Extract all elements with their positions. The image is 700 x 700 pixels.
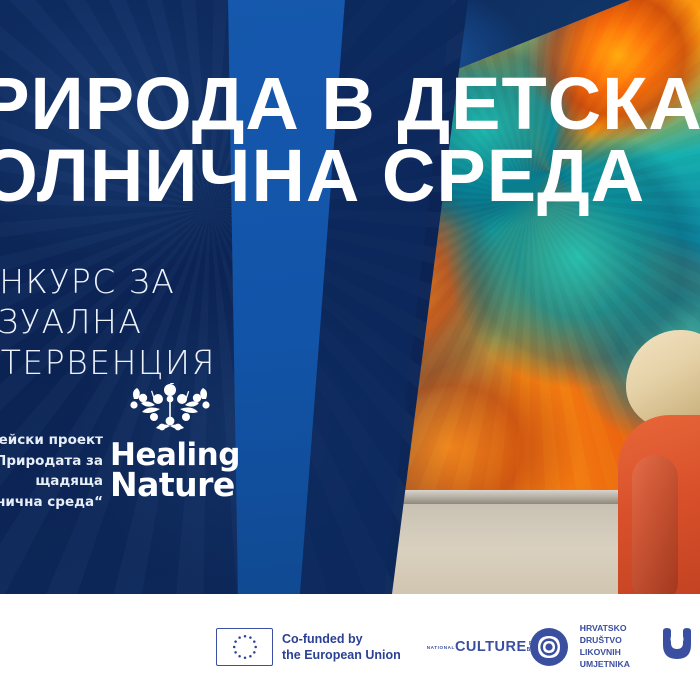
healing-nature-wordmark: Healing Nature xyxy=(110,441,230,500)
national-culture-fund-logo: NATIONAL CULTURE FUND OF BULGARIA xyxy=(427,626,501,668)
eu-flag-icon xyxy=(216,628,273,666)
hdlu-circle-icon xyxy=(527,625,571,669)
ncf-subtitle-top: NATIONAL xyxy=(427,645,455,650)
footer-logo-bar: Co-funded by the European Union xyxy=(0,594,700,700)
project-note-line-1: Европейски проект xyxy=(0,430,103,451)
project-note-line-3: болнична среда“ xyxy=(0,492,103,513)
hdlu-line-4: UMJETNIKA xyxy=(580,659,630,671)
brand-word-nature: Nature xyxy=(110,470,230,500)
hdlu-logo: HRVATSKO DRUŠTVO LIKOVNIH UMJETNIKA xyxy=(527,623,630,670)
eu-cofunding-logo: Co-funded by the European Union xyxy=(216,628,401,666)
child-orange-shirt xyxy=(618,415,700,594)
poster-canvas: ПРИРОДА В ДЕТСКА БОЛНИЧНА СРЕДА КОНКУРС … xyxy=(0,0,700,700)
eu-text-line-2: the European Union xyxy=(282,647,401,664)
hdlu-name-text: HRVATSKO DRUŠTVO LIKOVNIH UMJETNIKA xyxy=(580,623,630,670)
subtitle-line-1: КОНКУРС ЗА ВИЗУАЛНА xyxy=(0,262,368,343)
healing-nature-logo: Healing Nature xyxy=(110,383,230,500)
project-note: Европейски проект "Природата за щадяща б… xyxy=(0,430,103,512)
hdlu-line-2: DRUŠTVO xyxy=(580,635,630,647)
eu-cofunding-text: Co-funded by the European Union xyxy=(282,631,401,664)
hdlu-line-1: HRVATSKO xyxy=(580,623,630,635)
title-line-1: ПРИРОДА В ДЕТСКА xyxy=(0,62,700,145)
nbu-logo: НОВ БЪЛГАРСКИ УНИВЕРСИТЕТ xyxy=(656,625,700,669)
eu-text-line-1: Co-funded by xyxy=(282,631,401,648)
floral-ornament-icon xyxy=(110,383,230,441)
title-line-2: БОЛНИЧНА СРЕДА xyxy=(0,140,700,212)
ncf-wordmark: CULTURE xyxy=(455,640,527,655)
page-subtitle: КОНКУРС ЗА ВИЗУАЛНА ИНТЕРВЕНЦИЯ xyxy=(0,262,368,383)
project-note-line-2: "Природата за щадяща xyxy=(0,451,103,492)
hdlu-rest-4: MJETNIKA xyxy=(586,659,630,669)
hdlu-rest-3: IKOVNIH xyxy=(585,647,621,657)
subtitle-line-2: ИНТЕРВЕНЦИЯ xyxy=(0,343,368,383)
page-title: ПРИРОДА В ДЕТСКА БОЛНИЧНА СРЕДА xyxy=(0,68,700,212)
hdlu-rest-2: RUŠTVO xyxy=(586,635,622,645)
nbu-logo-icon xyxy=(656,625,696,669)
hdlu-rest-1: RVATSKO xyxy=(586,623,627,633)
hdlu-line-3: LIKOVNIH xyxy=(580,647,630,659)
